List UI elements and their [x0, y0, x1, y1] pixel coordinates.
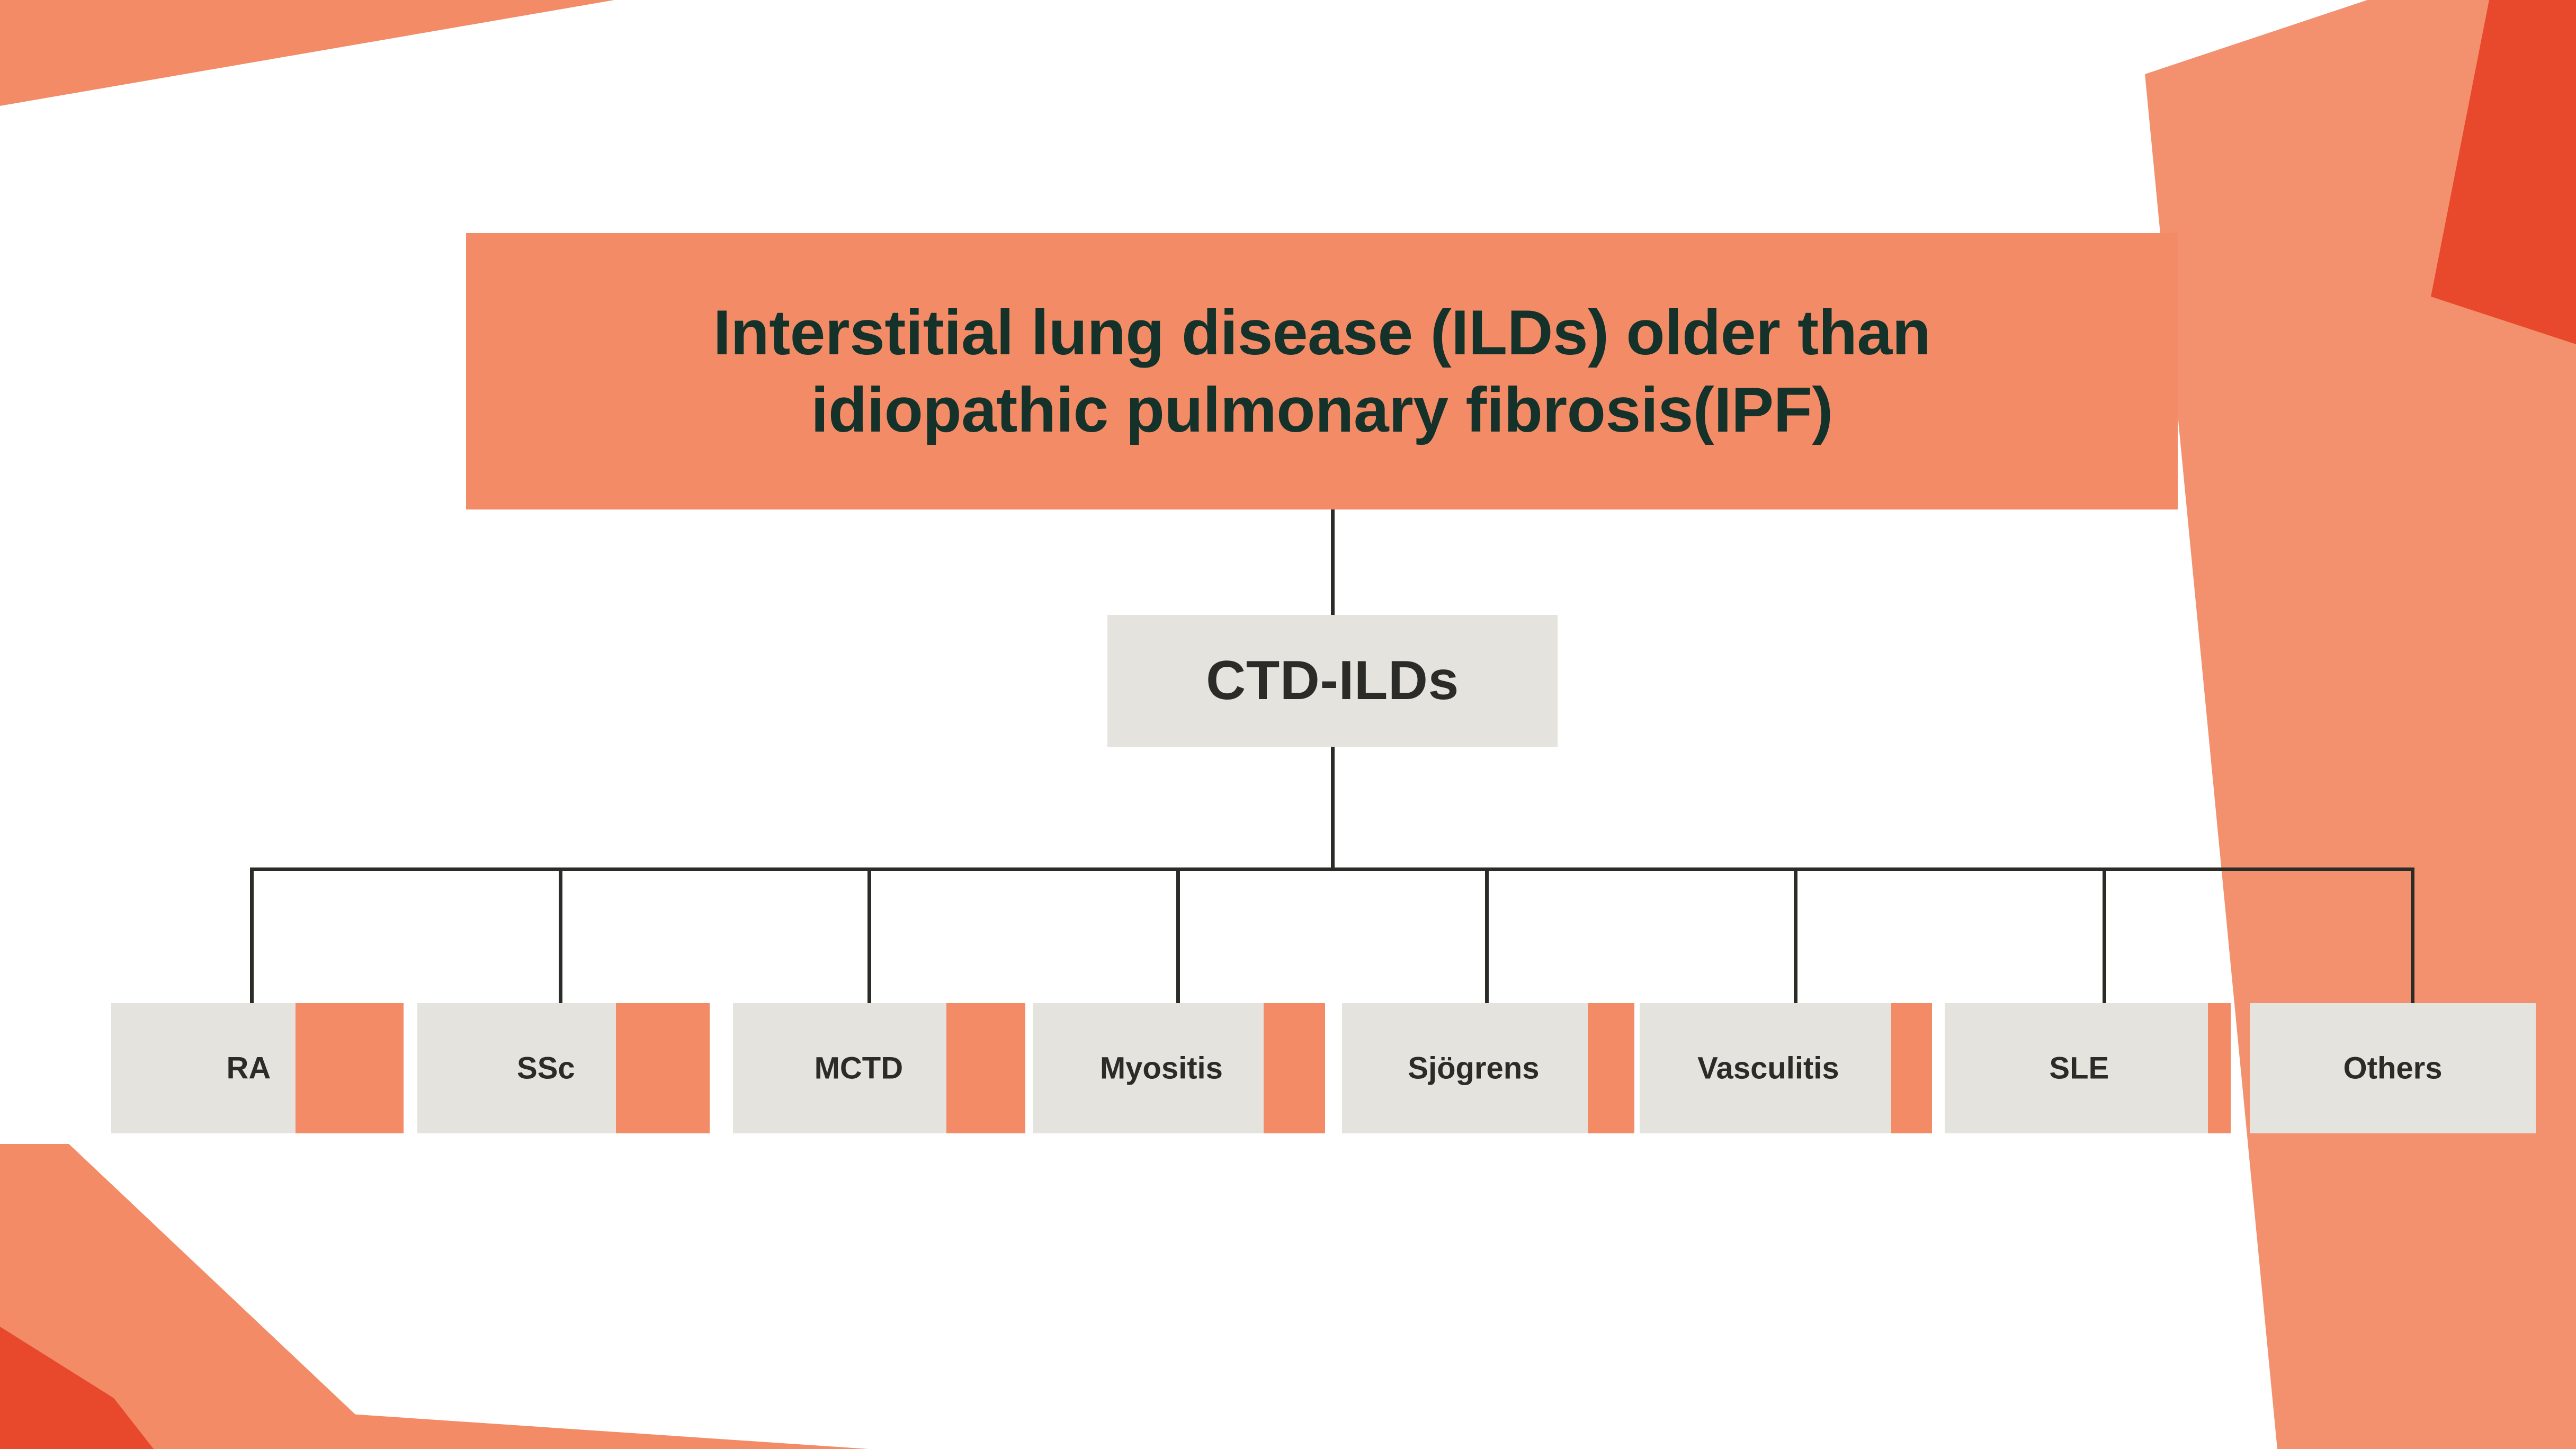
leaf-fill-bar — [1588, 1003, 1634, 1133]
leaf-stem-vasculitis — [1794, 867, 1797, 1003]
leaf-fill-bar — [296, 1003, 404, 1133]
leaf-node-label: RA — [227, 1051, 271, 1086]
leaf-stem-ssc — [559, 867, 562, 1003]
leaf-node-mctd[interactable]: MCTD — [733, 1003, 1025, 1133]
bottom-left-red-wedge — [0, 1327, 154, 1449]
leaf-node-others[interactable]: Others — [2250, 1003, 2536, 1133]
leaf-node-vasculitis[interactable]: Vasculitis — [1640, 1003, 1932, 1133]
leaf-stem-mctd — [867, 867, 871, 1003]
leaf-fill-bar — [2208, 1003, 2231, 1133]
node-ctd-ilds[interactable]: CTD-ILDs — [1107, 615, 1558, 747]
slide-canvas: Interstitial lung disease (ILDs) older t… — [0, 0, 2576, 1449]
leaf-node-label: Others — [2344, 1051, 2443, 1086]
top-right-red-wedge — [2431, 0, 2576, 344]
page-title: Interstitial lung disease (ILDs) older t… — [713, 294, 1931, 449]
leaf-node-ra[interactable]: RA — [111, 1003, 404, 1133]
top-left-salmon-wedge — [0, 0, 614, 106]
middle-to-bus-connector — [1331, 747, 1335, 869]
bottom-left-salmon-wedge — [0, 1144, 392, 1449]
leaf-node-sjogrens[interactable]: Sjögrens — [1342, 1003, 1634, 1133]
leaf-stem-others — [2411, 867, 2414, 1003]
leaf-node-label: Vasculitis — [1697, 1051, 1839, 1086]
top-right-salmon-wedge — [2145, 0, 2576, 1449]
leaf-stem-myositis — [1176, 867, 1180, 1003]
leaf-fill-bar — [1891, 1003, 1932, 1133]
leaf-stem-sle — [2103, 867, 2106, 1003]
title-banner: Interstitial lung disease (ILDs) older t… — [466, 233, 2178, 509]
leaf-node-label: SSc — [517, 1051, 575, 1086]
leaf-node-row: RA SSc MCTD Myositis Sjögrens Vasculitis… — [0, 1003, 2576, 1133]
leaf-fill-bar — [616, 1003, 710, 1133]
leaf-node-label: MCTD — [815, 1051, 904, 1086]
leaf-stem-sjogrens — [1485, 867, 1489, 1003]
leaf-node-label: SLE — [2049, 1051, 2109, 1086]
leaf-node-ssc[interactable]: SSc — [417, 1003, 710, 1133]
leaf-node-myositis[interactable]: Myositis — [1033, 1003, 1325, 1133]
leaf-stem-ra — [250, 867, 254, 1003]
leaf-node-label: Myositis — [1100, 1051, 1223, 1086]
leaf-node-label: Sjögrens — [1408, 1051, 1539, 1086]
bottom-left-salmon-wedge-2 — [0, 1282, 869, 1449]
leaf-fill-bar — [946, 1003, 1025, 1133]
leaf-fill-bar — [1264, 1003, 1325, 1133]
node-ctd-ilds-label: CTD-ILDs — [1206, 649, 1459, 712]
leaf-node-sle[interactable]: SLE — [1945, 1003, 2231, 1133]
trunk-connector — [1331, 509, 1335, 615]
leaf-bus-line — [250, 867, 2411, 871]
